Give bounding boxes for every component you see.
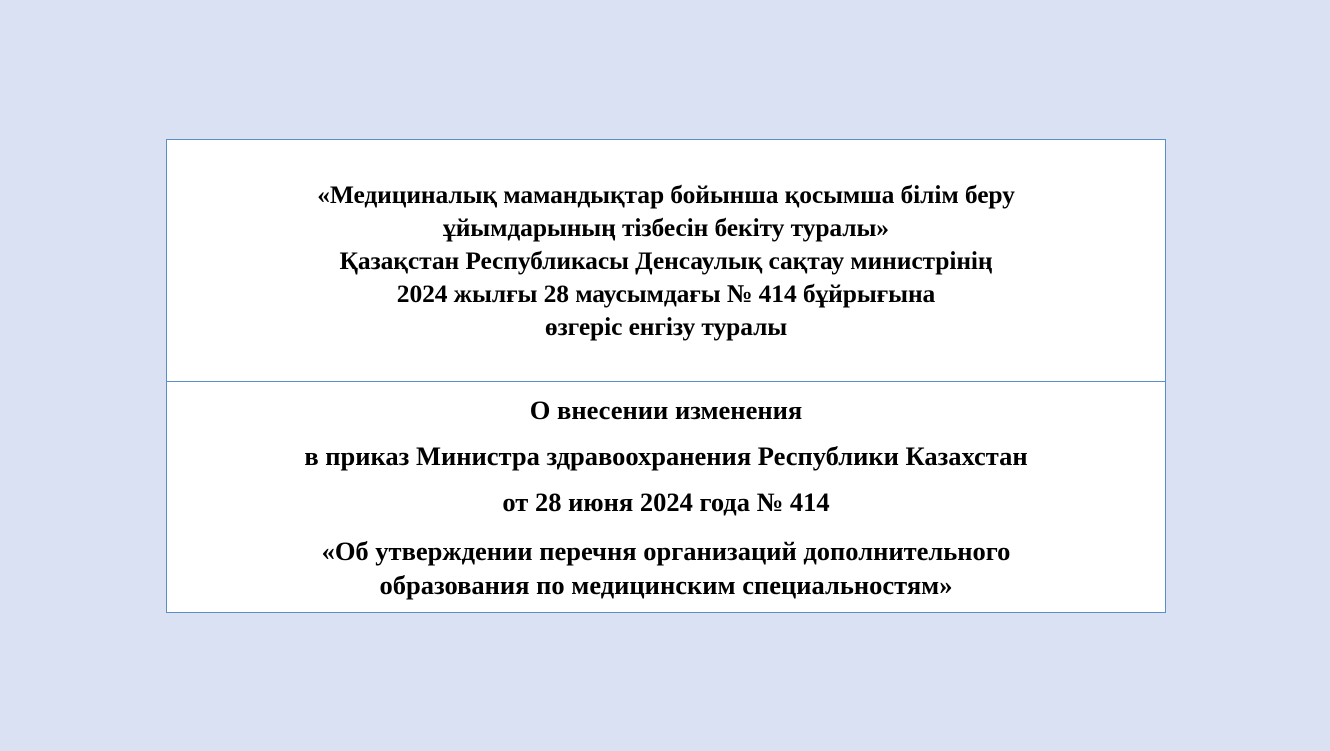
kazakh-title-line-4: 2024 жылғы 28 маусымдағы № 414 бұйрығына — [191, 277, 1141, 310]
russian-title-line-1: О внесении изменения — [181, 387, 1151, 433]
russian-title-line-3: от 28 июня 2024 года № 414 — [181, 479, 1151, 525]
kazakh-title-line-5: өзгеріс енгізу туралы — [191, 310, 1141, 343]
russian-title-line-2: в приказ Министра здравоохранения Респуб… — [181, 433, 1151, 479]
kazakh-title-line-3: Қазақстан Республикасы Денсаулық сақтау … — [191, 244, 1141, 277]
russian-title-block: О внесении изменения в приказ Министра з… — [167, 382, 1165, 612]
russian-title-line-4: «Об утверждении перечня организаций допо… — [181, 534, 1151, 568]
russian-title-line-5: образования по медицинским специальностя… — [181, 568, 1151, 602]
slide-canvas: «Медициналық мамандықтар бойынша қосымша… — [0, 0, 1330, 751]
kazakh-title-line-2: ұйымдарының тізбесін бекіту туралы» — [191, 211, 1141, 244]
title-card: «Медициналық мамандықтар бойынша қосымша… — [166, 139, 1166, 613]
kazakh-title-line-1: «Медициналық мамандықтар бойынша қосымша… — [191, 178, 1141, 211]
kazakh-title-block: «Медициналық мамандықтар бойынша қосымша… — [167, 140, 1165, 382]
